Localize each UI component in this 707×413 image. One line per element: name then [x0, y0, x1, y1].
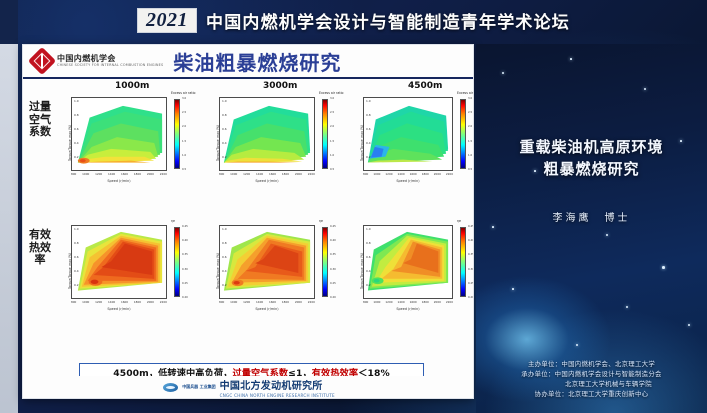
colorbar-ticks: 3.0 2.5 2.0 1.5 1.0 0.5: [330, 97, 344, 171]
cbar-tick: 2.0: [468, 125, 474, 128]
colorbar: ηe 0.45 0.40 0.35 0.30 0.25 0.20: [173, 225, 195, 299]
presenter-name: 李海鹰 博士: [476, 209, 707, 224]
ytick: 0.6: [222, 255, 227, 259]
footer-institute-en: CNGC CHINA NORTH ENGINE RESEARCH INSTITU…: [220, 393, 335, 398]
xtick: 1600: [121, 300, 128, 304]
banner-title: 中国内燃机学会设计与智能制造青年学术论坛: [206, 8, 570, 33]
panel-excess-air-4500m: 1.0 0.8 0.6 0.4 0.2 Torque/Torque_max (%…: [349, 91, 474, 187]
x-axis-label: Speed (r/min): [71, 307, 167, 311]
ytick: 0.6: [74, 127, 79, 131]
cbar-tick: 2.5: [468, 111, 474, 114]
cbar-tick: 0.40: [182, 239, 196, 242]
panel-efficiency-1000m: 1.0 0.8 0.6 0.4 0.2 Torque/Torque_max (%…: [57, 219, 203, 315]
xtick: 1200: [243, 172, 250, 176]
xtick: 1800: [282, 300, 289, 304]
panel-efficiency-4500m: 1.0 0.8 0.6 0.4 0.2 Torque/Torque_max (%…: [349, 219, 474, 315]
organizer-line-host: 主办单位：中国内燃机学会、北京理工大学: [476, 359, 707, 369]
cbar-tick: 0.20: [330, 296, 344, 299]
csice-logo-en: CHINESE SOCIETY FOR INTERNAL COMBUSTION …: [57, 63, 163, 68]
ytick: 0.8: [74, 241, 79, 245]
slide-title: 柴油粗暴燃烧研究: [173, 47, 341, 76]
xtick: 1600: [121, 172, 128, 176]
ytick: 0.4: [74, 269, 79, 273]
x-axis-label: Speed (r/min): [363, 307, 453, 311]
colorbar-title: Excess air ratio: [457, 91, 474, 95]
colorbar: ηe 0.45 0.40 0.35 0.30 0.25 0.20: [459, 225, 474, 299]
csice-logo-cn: 中国内燃机学会: [57, 54, 163, 63]
cbar-tick: 3.0: [182, 97, 196, 100]
cbar-tick: 0.45: [182, 225, 196, 228]
slide-footer: 中国兵器 工业集团 中国北方发动机研究所 CNGC CHINA NORTH EN…: [23, 376, 474, 398]
colorbar-ticks: 0.45 0.40 0.35 0.30 0.25 0.20: [468, 225, 474, 299]
contour-plot: [220, 226, 314, 298]
cbar-tick: 0.45: [330, 225, 344, 228]
organizer-line-cohost2: 北京理工大学机械与车辆学院: [476, 379, 707, 389]
xtick: 2000: [147, 300, 154, 304]
ytick: 0.2: [74, 283, 79, 287]
colorbar-ticks: 0.45 0.40 0.35 0.30 0.25 0.20: [182, 225, 196, 299]
y-axis-label: Torque/Torque_max (%): [216, 253, 220, 289]
ytick: 0.4: [222, 269, 227, 273]
row-label-thermal-efficiency: 有效热效率: [27, 229, 53, 267]
xtick: 2000: [295, 300, 302, 304]
cbar-tick: 0.30: [330, 268, 344, 271]
xtick: 800: [71, 300, 76, 304]
xtick: 1600: [410, 300, 417, 304]
xtick: 2200: [446, 300, 453, 304]
csice-logo-text: 中国内燃机学会 CHINESE SOCIETY FOR INTERNAL COM…: [57, 54, 163, 68]
cbar-tick: 1.5: [330, 140, 344, 143]
contour-plot: [364, 98, 452, 170]
cbar-tick: 0.35: [330, 253, 344, 256]
cbar-tick: 0.40: [468, 239, 474, 242]
xtick: 1400: [256, 172, 263, 176]
ytick: 0.8: [222, 113, 227, 117]
xtick: 1600: [269, 172, 276, 176]
ytick: 0.4: [366, 269, 371, 273]
xtick: 1400: [108, 300, 115, 304]
col-header-1000m: 1000m: [115, 81, 149, 91]
north-engine-logo-icon: [163, 383, 178, 392]
slide-header: 中国内燃机学会 CHINESE SOCIETY FOR INTERNAL COM…: [23, 45, 473, 79]
xtick: 1200: [95, 172, 102, 176]
cbar-tick: 2.0: [330, 125, 344, 128]
colorbar: Excess air ratio 3.0 2.5 2.0 1.5 1.0 0.5: [321, 97, 343, 171]
ytick: 0.8: [74, 113, 79, 117]
plot-area: 1.0 0.8 0.6 0.4 0.2: [71, 97, 167, 171]
x-tick-labels: 800 1000 1200 1400 1600 1800 2000 2200: [71, 172, 167, 176]
star-field: [476, 44, 707, 413]
cbar-tick: 1.0: [468, 154, 474, 157]
ytick: 0.6: [222, 127, 227, 131]
y-axis-label: Torque/Torque_max (%): [68, 125, 72, 161]
colorbar-title: ηe: [171, 219, 175, 223]
panel-excess-air-1000m: 1.0 0.8 0.6 0.4 0.2 Torque/Torque_max (%…: [57, 91, 203, 187]
cbar-tick: 0.30: [182, 268, 196, 271]
colorbar-gradient: [460, 99, 466, 169]
cbar-tick: 2.0: [182, 125, 196, 128]
xtick: 1400: [108, 172, 115, 176]
norinco-group-label: 中国兵器 工业集团: [182, 385, 215, 390]
xtick: 1000: [373, 300, 380, 304]
colorbar-gradient: [174, 227, 180, 297]
ytick: 0.6: [74, 255, 79, 259]
ytick: 0.4: [74, 141, 79, 145]
panel-excess-air-3000m: 1.0 0.8 0.6 0.4 0.2 Torque/Torque_max (%…: [205, 91, 351, 187]
xtick: 1000: [82, 172, 89, 176]
cbar-tick: 0.25: [182, 282, 196, 285]
y-axis-label: Torque/Torque_max (%): [360, 125, 364, 161]
ytick: 1.0: [222, 227, 227, 231]
xtick: 2000: [295, 172, 302, 176]
xtick: 2200: [160, 300, 167, 304]
colorbar: ηe 0.45 0.40 0.35 0.30 0.25 0.20: [321, 225, 343, 299]
organizer-block: 主办单位：中国内燃机学会、北京理工大学 承办单位：中国内燃机学会设计与智能制造分…: [476, 359, 707, 399]
xtick: 1800: [282, 172, 289, 176]
xtick: 800: [71, 172, 76, 176]
xtick: 2200: [160, 172, 167, 176]
xtick: 1400: [256, 300, 263, 304]
colorbar-title: ηe: [319, 219, 323, 223]
cbar-tick: 0.35: [468, 253, 474, 256]
xtick: 1600: [410, 172, 417, 176]
xtick: 1200: [385, 172, 392, 176]
colorbar-title: ηe: [457, 219, 461, 223]
xtick: 1800: [134, 172, 141, 176]
x-tick-labels: 800 1000 1200 1400 1600 1800 2000 2200: [219, 300, 315, 304]
xtick: 1800: [422, 300, 429, 304]
colorbar: Excess air ratio 3.0 2.5 2.0 1.5 1.0 0.5: [459, 97, 474, 171]
xtick: 1400: [398, 172, 405, 176]
x-axis-label: Speed (r/min): [219, 307, 315, 311]
cbar-tick: 0.35: [182, 253, 196, 256]
xtick: 1200: [385, 300, 392, 304]
xtick: 1000: [82, 300, 89, 304]
xtick: 1400: [398, 300, 405, 304]
xtick: 1800: [134, 300, 141, 304]
ytick: 0.8: [366, 113, 371, 117]
colorbar-ticks: 3.0 2.5 2.0 1.5 1.0 0.5: [468, 97, 474, 171]
plot-area: 1.0 0.8 0.6 0.4 0.2: [363, 225, 453, 299]
presentation-slide: 中国内燃机学会 CHINESE SOCIETY FOR INTERNAL COM…: [22, 44, 474, 399]
cbar-tick: 1.5: [468, 140, 474, 143]
x-tick-labels: 800 1000 1200 1400 1600 1800 2000 2200: [219, 172, 315, 176]
ytick: 1.0: [366, 99, 371, 103]
csice-logo-icon: [31, 50, 53, 72]
cbar-tick: 1.0: [330, 154, 344, 157]
cbar-tick: 0.45: [468, 225, 474, 228]
xtick: 2200: [308, 300, 315, 304]
cbar-tick: 0.25: [330, 282, 344, 285]
cbar-tick: 1.5: [182, 140, 196, 143]
ytick: 0.2: [222, 155, 227, 159]
x-tick-labels: 800 1000 1200 1400 1600 1800 2000 2200: [363, 300, 453, 304]
ytick: 0.8: [222, 241, 227, 245]
cbar-tick: 2.5: [182, 111, 196, 114]
cbar-tick: 0.30: [468, 268, 474, 271]
xtick: 1000: [230, 172, 237, 176]
ytick: 0.2: [74, 155, 79, 159]
contour-plot: [220, 98, 314, 170]
cbar-tick: 3.0: [468, 97, 474, 100]
plot-area: 1.0 0.8 0.6 0.4 0.2: [219, 97, 315, 171]
x-tick-labels: 800 1000 1200 1400 1600 1800 2000 2200: [363, 172, 453, 176]
colorbar-title: Excess air ratio: [171, 91, 195, 95]
cbar-tick: 0.5: [182, 168, 196, 171]
cbar-tick: 0.5: [468, 168, 474, 171]
x-axis-label: Speed (r/min): [219, 179, 315, 183]
ytick: 0.6: [366, 255, 371, 259]
colorbar-gradient: [174, 99, 180, 169]
cbar-tick: 2.5: [330, 111, 344, 114]
ytick: 0.2: [222, 283, 227, 287]
row-label-excess-air-ratio: 过量空气系数: [27, 101, 53, 139]
cbar-tick: 0.5: [330, 168, 344, 171]
colorbar-gradient: [460, 227, 466, 297]
colorbar-gradient: [322, 99, 328, 169]
presentation-title: 重载柴油机高原环境 粗暴燃烧研究: [476, 136, 707, 180]
xtick: 2000: [434, 172, 441, 176]
xtick: 800: [363, 300, 368, 304]
xtick: 800: [219, 300, 224, 304]
banner-year-badge: 2021: [137, 8, 197, 33]
ytick: 1.0: [366, 227, 371, 231]
presentation-title-line1: 重载柴油机高原环境: [476, 136, 707, 158]
ytick: 1.0: [222, 99, 227, 103]
xtick: 800: [219, 172, 224, 176]
contour-plot: [72, 98, 166, 170]
xtick: 1600: [269, 300, 276, 304]
xtick: 2200: [446, 172, 453, 176]
video-stage: 2021 中国内燃机学会设计与智能制造青年学术论坛 中国内燃机学会 CHINES…: [0, 0, 707, 413]
colorbar-ticks: 3.0 2.5 2.0 1.5 1.0 0.5: [182, 97, 196, 171]
cbar-tick: 1.0: [182, 154, 196, 157]
ytick: 0.4: [222, 141, 227, 145]
ytick: 0.6: [366, 127, 371, 131]
chart-grid: 1000m 3000m 4500m 过量空气系数 有效热效率: [23, 81, 474, 359]
cbar-tick: 0.40: [330, 239, 344, 242]
colorbar-ticks: 0.45 0.40 0.35 0.30 0.25 0.20: [330, 225, 344, 299]
ytick: 0.8: [366, 241, 371, 245]
conference-banner: 2021 中国内燃机学会设计与智能制造青年学术论坛: [0, 0, 707, 40]
y-axis-label: Torque/Torque_max (%): [216, 125, 220, 161]
xtick: 2000: [147, 172, 154, 176]
xtick: 2000: [434, 300, 441, 304]
cbar-tick: 0.25: [468, 282, 474, 285]
y-axis-label: Torque/Torque_max (%): [360, 253, 364, 289]
plot-area: 1.0 0.8 0.6 0.4 0.2: [363, 97, 453, 171]
organizer-line-cohost: 承办单位：中国内燃机学会设计与智能制造分会: [476, 369, 707, 379]
colorbar-gradient: [322, 227, 328, 297]
col-header-4500m: 4500m: [408, 81, 442, 91]
col-header-3000m: 3000m: [263, 81, 297, 91]
xtick: 1200: [95, 300, 102, 304]
contour-plot: [364, 226, 452, 298]
xtick: 800: [363, 172, 368, 176]
cbar-tick: 3.0: [330, 97, 344, 100]
xtick: 1800: [422, 172, 429, 176]
x-axis-label: Speed (r/min): [71, 179, 167, 183]
plot-area: 1.0 0.8 0.6 0.4 0.2: [71, 225, 167, 299]
x-axis-label: Speed (r/min): [363, 179, 453, 183]
xtick: 1000: [230, 300, 237, 304]
colorbar: Excess air ratio 3.0 2.5 2.0 1.5 1.0 0.5: [173, 97, 195, 171]
xtick: 2200: [308, 172, 315, 176]
xtick: 1200: [243, 300, 250, 304]
footer-institute-cn: 中国北方发动机研究所: [220, 377, 323, 392]
ytick: 0.2: [366, 283, 371, 287]
ytick: 0.2: [366, 155, 371, 159]
ytick: 1.0: [74, 99, 79, 103]
ytick: 1.0: [74, 227, 79, 231]
organizer-line-support: 协办单位：北京理工大学重庆创新中心: [476, 389, 707, 399]
contour-plot: [72, 226, 166, 298]
x-tick-labels: 800 1000 1200 1400 1600 1800 2000 2200: [71, 300, 167, 304]
title-panel: 重载柴油机高原环境 粗暴燃烧研究 李海鹰 博士 主办单位：中国内燃机学会、北京理…: [476, 44, 707, 413]
colorbar-title: Excess air ratio: [319, 91, 343, 95]
y-axis-label: Torque/Torque_max (%): [68, 253, 72, 289]
cbar-tick: 0.20: [182, 296, 196, 299]
ytick: 0.4: [366, 141, 371, 145]
cbar-tick: 0.20: [468, 296, 474, 299]
plot-area: 1.0 0.8 0.6 0.4 0.2: [219, 225, 315, 299]
background-sliver-left: [0, 44, 18, 413]
xtick: 1000: [373, 172, 380, 176]
panel-efficiency-3000m: 1.0 0.8 0.6 0.4 0.2 Torque/Torque_max (%…: [205, 219, 351, 315]
presentation-title-line2: 粗暴燃烧研究: [476, 158, 707, 180]
